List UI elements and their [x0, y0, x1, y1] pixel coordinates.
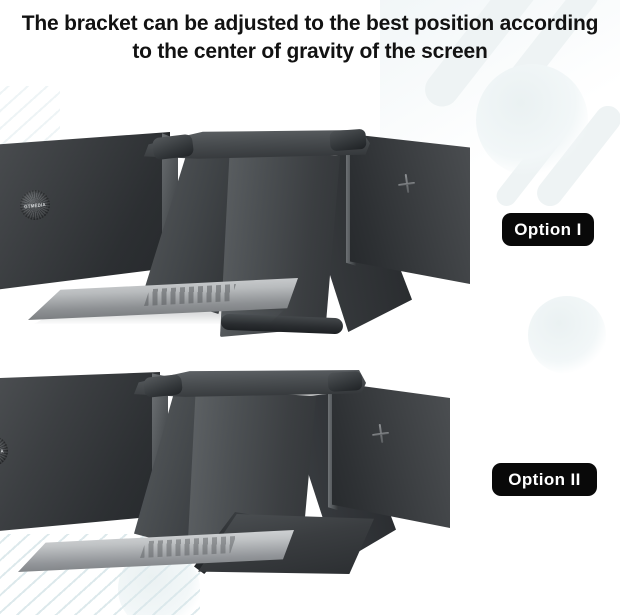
- background-bar-3: [532, 101, 620, 212]
- product-feature-slide: The bracket can be adjusted to the best …: [0, 0, 620, 615]
- brand-logo-text: GTMEDIA: [0, 447, 4, 454]
- option-two-badge-label: Option II: [508, 470, 581, 490]
- option-one-badge: Option I: [502, 213, 594, 246]
- heading-line-2: to the center of gravity of the screen: [0, 38, 620, 66]
- cross-alignment-mark-icon: [397, 173, 416, 194]
- heading-line-1: The bracket can be adjusted to the best …: [22, 12, 599, 35]
- background-blob-2: [528, 296, 606, 374]
- option-one-badge-label: Option I: [514, 220, 581, 240]
- slide-heading: The bracket can be adjusted to the best …: [0, 10, 620, 66]
- hinge-knuckle-right: [328, 371, 363, 392]
- hinge-knuckle-left: [143, 374, 183, 398]
- brand-logo-text: GTMEDIA: [24, 201, 46, 209]
- right-screen-panel: [332, 382, 450, 528]
- hinge-knuckle-right: [329, 129, 366, 151]
- cross-alignment-mark-icon: [371, 423, 390, 444]
- right-screen-panel: [350, 134, 470, 284]
- background-bar-4: [493, 122, 568, 210]
- left-screen-panel: [0, 372, 160, 532]
- product-photo-option-one: GTMEDIA: [0, 118, 474, 343]
- option-two-badge: Option II: [492, 463, 597, 496]
- background-blob-1: [476, 64, 588, 176]
- product-photo-option-two: GTMEDIA: [0, 362, 458, 577]
